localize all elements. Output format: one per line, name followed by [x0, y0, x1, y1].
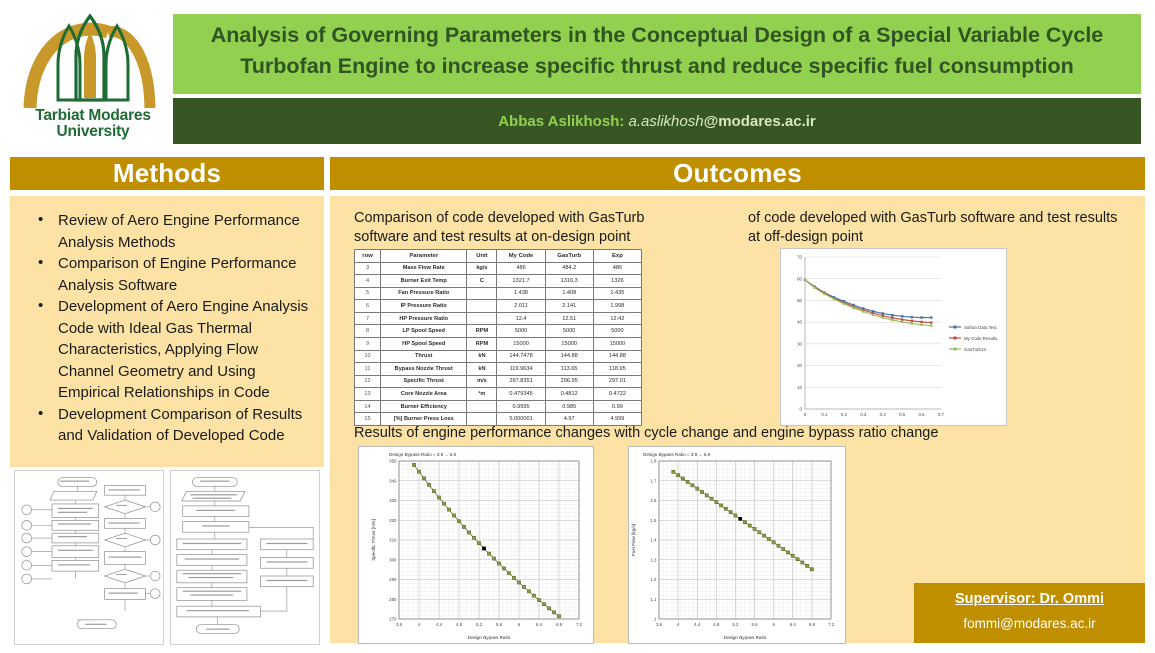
- logo-name-line1: Tarbiat Modares: [18, 108, 168, 124]
- x-tick-label: 5.6: [496, 622, 503, 627]
- x-tick-label: 5.6: [752, 622, 759, 627]
- x-tick-label: 4.4: [694, 622, 701, 627]
- data-point: [462, 525, 465, 528]
- data-point: [786, 551, 789, 554]
- parameter-name: Specific Thrust: [381, 375, 467, 388]
- flowchart-left-diagram: [15, 471, 163, 644]
- value-cell: 297.8351: [497, 375, 545, 388]
- data-point: [753, 527, 756, 530]
- outcomes-section-header: Outcomes: [330, 157, 1145, 190]
- value-cell: 1321.7: [497, 275, 545, 288]
- axis-label-y-specific-thrust: Specific Thrust [m/s]: [371, 519, 376, 561]
- data-point: [739, 517, 742, 520]
- data-point: [911, 316, 913, 318]
- unit-cell: RPM: [467, 325, 497, 338]
- unit-cell: [467, 287, 497, 300]
- flowchart-figures: [14, 470, 320, 645]
- flowchart-right-diagram: [171, 471, 319, 644]
- row-number: 14: [355, 400, 381, 413]
- y-tick-label: 350: [389, 459, 397, 464]
- fuel-flow-plot: Design Bypass Ratio = 3.9 ... 6.8 11.11.…: [629, 447, 845, 643]
- data-point: [833, 298, 835, 300]
- value-cell: 486: [497, 262, 545, 275]
- value-cell: 15000: [545, 337, 593, 350]
- author-name: Abbas Aslikhosh: [498, 113, 619, 130]
- data-point: [901, 321, 903, 323]
- y-tick-label: 1.4: [650, 538, 657, 543]
- data-point: [452, 514, 455, 517]
- y-tick-label: 1.5: [650, 518, 657, 523]
- data-point: [724, 507, 727, 510]
- parameter-name: Fan Pressure Ratio: [381, 287, 467, 300]
- x-tick-label: 0.4: [880, 412, 887, 417]
- data-point: [472, 536, 475, 539]
- value-cell: 12.4: [497, 312, 545, 325]
- value-cell: 118.95: [593, 363, 641, 376]
- on-design-comparison-table: rowParameterUnitMy CodeGasTurbExp 3Mass …: [354, 249, 642, 426]
- parameter-name: IP Pressure Ratio: [381, 300, 467, 313]
- data-point: [492, 557, 495, 560]
- data-point: [729, 511, 732, 514]
- list-item: Development Comparison of Results and Va…: [24, 404, 314, 447]
- data-point: [814, 287, 816, 289]
- value-cell: 144.88: [545, 350, 593, 363]
- methods-bullet-list: Review of Aero Engine Performance Analys…: [10, 196, 324, 447]
- unit-cell: ²m: [467, 388, 497, 401]
- parameter-name: LP Spool Speed: [381, 325, 467, 338]
- fuel-flow-chart: Design Bypass Ratio = 3.9 ... 6.8 11.11.…: [628, 446, 846, 644]
- data-point: [507, 572, 510, 575]
- logo-mark: [18, 12, 168, 112]
- y-tick-label: 50: [797, 298, 802, 303]
- unit-cell: [467, 413, 497, 426]
- y-tick-label: 330: [389, 498, 397, 503]
- data-point: [700, 490, 703, 493]
- data-point: [686, 480, 689, 483]
- row-number: 4: [355, 275, 381, 288]
- parameter-name: Burner Exit Temp: [381, 275, 467, 288]
- data-point: [705, 494, 708, 497]
- data-point: [432, 490, 435, 493]
- value-cell: 296.95: [545, 375, 593, 388]
- unit-cell: C: [467, 275, 497, 288]
- value-cell: 486: [593, 262, 641, 275]
- x-tick-label: 5.2: [732, 622, 739, 627]
- data-point: [710, 497, 713, 500]
- data-point: [477, 542, 480, 545]
- table-row: 13Core Nozzle Area²m0.4793450.48120.4722: [355, 388, 642, 401]
- y-tick-label: 310: [389, 538, 397, 543]
- data-point: [920, 316, 922, 318]
- value-cell: 297.01: [593, 375, 641, 388]
- data-point: [482, 547, 485, 550]
- x-tick-label: 6.8: [809, 622, 816, 627]
- data-point: [691, 484, 694, 487]
- data-point: [772, 541, 775, 544]
- supervisor-title: Supervisor: Dr. Ommi: [914, 591, 1145, 607]
- column-header: row: [355, 250, 381, 263]
- y-tick-label: 280: [389, 597, 397, 602]
- table-row: 14Burner Efficiency0.99950.9850.99: [355, 400, 642, 413]
- value-cell: 0.4722: [593, 388, 641, 401]
- y-tick-label: 1.7: [650, 478, 657, 483]
- parameter-name: Bypass Nozzle Thrust: [381, 363, 467, 376]
- y-tick-label: 30: [797, 341, 802, 346]
- value-cell: 0.99: [593, 400, 641, 413]
- unit-cell: kg/s: [467, 262, 497, 275]
- data-point: [930, 321, 932, 323]
- value-cell: 1.435: [593, 287, 641, 300]
- data-point: [527, 590, 530, 593]
- data-point: [467, 531, 470, 534]
- row-number: 3: [355, 262, 381, 275]
- parameter-name: Mass Flow Rate: [381, 262, 467, 275]
- specific-thrust-plot: Design Bypass Ratio = 3.9 ... 6.8 270280…: [359, 447, 593, 643]
- value-cell: 2.141: [545, 300, 593, 313]
- parameter-name: Burner Efficiency: [381, 400, 467, 413]
- list-item: Review of Aero Engine Performance Analys…: [24, 210, 314, 253]
- caption-results: Results of engine performance changes wi…: [354, 424, 1054, 443]
- data-point: [487, 552, 490, 555]
- supervisor-box: Supervisor: Dr. Ommi fommi@modares.ac.ir: [914, 583, 1145, 643]
- chart-title-specific-thrust: Design Bypass Ratio = 3.9 ... 6.8: [389, 452, 456, 457]
- data-point: [497, 562, 500, 565]
- data-point: [743, 521, 746, 524]
- y-tick-label: 60: [797, 276, 802, 281]
- data-point: [696, 487, 699, 490]
- flowchart-right: [170, 470, 320, 645]
- parameter-name: HP Spool Speed: [381, 337, 467, 350]
- value-cell: 1316.3: [545, 275, 593, 288]
- data-point: [748, 524, 751, 527]
- axis-label-y-fuel-flow: Fuel Flow [kg/s]: [631, 524, 636, 556]
- data-point: [901, 318, 903, 320]
- value-cell: 5000: [545, 325, 593, 338]
- table-row: 12Specific Thrustm/s297.8351296.95297.01: [355, 375, 642, 388]
- data-point: [427, 483, 430, 486]
- value-cell: 113.65: [545, 363, 593, 376]
- author-email: a.aslikhosh@modares.ac.ir: [629, 113, 816, 130]
- author-bar: Abbas Aslikhosh: a.aslikhosh@modares.ac.…: [173, 98, 1141, 144]
- row-number: 15: [355, 413, 381, 426]
- row-number: 10: [355, 350, 381, 363]
- y-tick-label: 10: [797, 385, 802, 390]
- data-point: [557, 615, 560, 618]
- data-point: [767, 537, 770, 540]
- page-title: Analysis of Governing Parameters in the …: [173, 14, 1141, 82]
- value-cell: 12.51: [545, 312, 593, 325]
- y-tick-label: 70: [797, 255, 802, 260]
- x-tick-label: 0.7: [938, 412, 945, 417]
- row-number: 12: [355, 375, 381, 388]
- methods-section-body: Review of Aero Engine Performance Analys…: [10, 196, 324, 467]
- value-cell: 5.000001: [497, 413, 545, 426]
- value-cell: 0.9995: [497, 400, 545, 413]
- row-number: 5: [355, 287, 381, 300]
- value-cell: 144.88: [593, 350, 641, 363]
- methods-section-header: Methods: [10, 157, 324, 190]
- x-tick-label: 0.2: [841, 412, 848, 417]
- data-point: [891, 317, 893, 319]
- y-tick-label: 1.6: [650, 498, 657, 503]
- value-cell: 15000: [593, 337, 641, 350]
- y-tick-label: 20: [797, 363, 802, 368]
- data-point: [806, 564, 809, 567]
- value-cell: 5000: [497, 325, 545, 338]
- data-point: [502, 567, 505, 570]
- parameter-name: [%] Burner Press Loss: [381, 413, 467, 426]
- column-header: Exp: [593, 250, 641, 263]
- data-point: [843, 302, 845, 304]
- data-point: [442, 502, 445, 505]
- value-cell: 1326: [593, 275, 641, 288]
- row-number: 7: [355, 312, 381, 325]
- data-point: [796, 558, 799, 561]
- data-point: [715, 500, 718, 503]
- supervisor-email[interactable]: fommi@modares.ac.ir: [914, 616, 1145, 631]
- data-point: [532, 594, 535, 597]
- author-line: Abbas Aslikhosh: a.aslikhosh@modares.ac.…: [498, 113, 816, 130]
- x-tick-label: 0.5: [899, 412, 906, 417]
- unit-cell: [467, 400, 497, 413]
- list-item: Comparison of Engine Performance Analysi…: [24, 253, 314, 296]
- data-point: [777, 544, 780, 547]
- data-point: [542, 603, 545, 606]
- table-row: 10ThrustkN144.7478144.88144.88: [355, 350, 642, 363]
- legend-label: GasTurb13: [964, 347, 986, 352]
- poster-header: Tarbiat Modares University Analysis of G…: [0, 0, 1155, 152]
- data-point: [901, 315, 903, 317]
- y-tick-label: 40: [797, 320, 802, 325]
- y-tick-label: 270: [389, 617, 397, 622]
- y-tick-label: 1.1: [650, 597, 657, 602]
- table-row: 7HP Pressure Ratio12.412.5112.42: [355, 312, 642, 325]
- table-row: 4Burner Exit TempC1321.71316.31326: [355, 275, 642, 288]
- value-cell: 484.2: [545, 262, 593, 275]
- data-point: [412, 463, 415, 466]
- data-point: [872, 314, 874, 316]
- row-number: 9: [355, 337, 381, 350]
- parameter-name: HP Pressure Ratio: [381, 312, 467, 325]
- y-tick-label: 300: [389, 557, 397, 562]
- university-logo: Tarbiat Modares University: [18, 12, 168, 147]
- data-point: [920, 321, 922, 323]
- table-row: 9HP Spool SpeedRPM150001500015000: [355, 337, 642, 350]
- data-point: [422, 477, 425, 480]
- unit-cell: [467, 312, 497, 325]
- table-body: 3Mass Flow Ratekg/s486484.24864Burner Ex…: [355, 262, 642, 425]
- value-cell: 15000: [497, 337, 545, 350]
- caption-off-design: of code developed with GasTurb software …: [748, 209, 1118, 247]
- list-item: Development of Aero Engine Analysis Code…: [24, 296, 314, 404]
- value-cell: 119.9634: [497, 363, 545, 376]
- data-point: [681, 477, 684, 480]
- data-point: [791, 554, 794, 557]
- axis-label-x-fuel-flow: Design Bypass Ratio: [724, 635, 767, 640]
- university-name: Tarbiat Modares University: [18, 108, 168, 140]
- flowchart-left: [14, 470, 164, 645]
- data-point: [862, 310, 864, 312]
- x-tick-label: 4.8: [713, 622, 720, 627]
- data-point: [801, 561, 804, 564]
- value-cell: 144.7478: [497, 350, 545, 363]
- data-point: [512, 576, 515, 579]
- x-tick-label: 0.6: [919, 412, 926, 417]
- data-point: [911, 320, 913, 322]
- unit-cell: kN: [467, 363, 497, 376]
- value-cell: 12.42: [593, 312, 641, 325]
- table-row: 15[%] Burner Press Loss5.0000014.974.999: [355, 413, 642, 426]
- table-header-row: rowParameterUnitMy CodeGasTurbExp: [355, 250, 642, 263]
- data-point: [457, 520, 460, 523]
- poster-title-box: Analysis of Governing Parameters in the …: [173, 14, 1141, 94]
- data-point: [734, 514, 737, 517]
- data-point: [882, 316, 884, 318]
- value-cell: 0.4812: [545, 388, 593, 401]
- logo-name-line2: University: [18, 124, 168, 140]
- value-cell: 0.479345: [497, 388, 545, 401]
- y-tick-label: 1.2: [650, 577, 657, 582]
- x-tick-label: 7.2: [828, 622, 835, 627]
- value-cell: 1.998: [593, 300, 641, 313]
- data-point: [437, 496, 440, 499]
- data-point: [417, 470, 420, 473]
- x-tick-label: 4.4: [436, 622, 443, 627]
- data-point: [522, 585, 525, 588]
- parameter-name: Thrust: [381, 350, 467, 363]
- value-cell: 4.97: [545, 413, 593, 426]
- y-tick-label: 340: [389, 478, 397, 483]
- data-point: [517, 581, 520, 584]
- column-header: Unit: [467, 250, 497, 263]
- x-tick-label: 7.2: [576, 622, 583, 627]
- x-tick-label: 0.3: [860, 412, 867, 417]
- parameter-name: Core Nozzle Area: [381, 388, 467, 401]
- column-header: My Code: [497, 250, 545, 263]
- y-tick-label: 1.8: [650, 459, 657, 464]
- value-cell: 1.438: [497, 287, 545, 300]
- data-point: [537, 598, 540, 601]
- data-point: [547, 607, 550, 610]
- value-cell: 0.985: [545, 400, 593, 413]
- chart-title-fuel-flow: Design Bypass Ratio = 3.9 ... 6.8: [643, 452, 710, 457]
- column-header: Parameter: [381, 250, 467, 263]
- data-point: [930, 316, 932, 318]
- table-row: 8LP Spool SpeedRPM500050005000: [355, 325, 642, 338]
- unit-cell: RPM: [467, 337, 497, 350]
- value-cell: 5000: [593, 325, 641, 338]
- legend-label: My Code Results: [964, 336, 998, 341]
- x-tick-label: 6.4: [536, 622, 543, 627]
- table-row: 5Fan Pressure Ratio1.4381.4081.435: [355, 287, 642, 300]
- y-tick-label: 320: [389, 518, 397, 523]
- data-point: [782, 547, 785, 550]
- value-cell: 1.408: [545, 287, 593, 300]
- specific-thrust-chart: Design Bypass Ratio = 3.9 ... 6.8 270280…: [358, 446, 594, 644]
- value-cell: 4.999: [593, 413, 641, 426]
- table-row: 11Bypass Nozzle ThrustkN119.9634113.6511…: [355, 363, 642, 376]
- data-point: [882, 312, 884, 314]
- value-cell: 2.011: [497, 300, 545, 313]
- x-tick-label: 6.4: [790, 622, 797, 627]
- row-number: 13: [355, 388, 381, 401]
- y-tick-label: 290: [389, 577, 397, 582]
- data-point: [758, 531, 761, 534]
- data-point: [810, 568, 813, 571]
- data-point: [552, 611, 555, 614]
- data-point: [930, 324, 932, 326]
- data-point: [891, 314, 893, 316]
- data-point: [911, 322, 913, 324]
- x-tick-label: 5.2: [476, 622, 483, 627]
- x-tick-label: 0.1: [821, 412, 828, 417]
- off-design-chart: 010203040506070 00.10.20.30.40.50.60.7 S…: [780, 248, 1007, 426]
- column-header: GasTurb: [545, 250, 593, 263]
- data-point: [763, 534, 766, 537]
- caption-on-design: Comparison of code developed with GasTur…: [354, 209, 684, 247]
- data-point: [920, 324, 922, 326]
- data-point: [672, 470, 675, 473]
- data-point: [720, 504, 723, 507]
- table-row: 3Mass Flow Ratekg/s486484.2486: [355, 262, 642, 275]
- x-tick-label: 3.6: [656, 622, 663, 627]
- x-tick-label: 3.6: [396, 622, 403, 627]
- unit-cell: [467, 300, 497, 313]
- axis-label-x-specific-thrust: Design Bypass Ratio: [468, 635, 511, 640]
- unit-cell: kN: [467, 350, 497, 363]
- row-number: 11: [355, 363, 381, 376]
- data-point: [823, 293, 825, 295]
- y-tick-label: 1.3: [650, 557, 657, 562]
- methods-header-label: Methods: [113, 158, 221, 189]
- row-number: 6: [355, 300, 381, 313]
- x-tick-label: 4.8: [456, 622, 463, 627]
- x-tick-label: 6.8: [556, 622, 563, 627]
- data-point: [447, 508, 450, 511]
- data-point: [852, 307, 854, 309]
- unit-cell: m/s: [467, 375, 497, 388]
- outcomes-header-label: Outcomes: [673, 158, 802, 189]
- off-design-plot: 010203040506070 00.10.20.30.40.50.60.7 S…: [781, 249, 1006, 425]
- row-number: 8: [355, 325, 381, 338]
- table-row: 6IP Pressure Ratio2.0112.1411.998: [355, 300, 642, 313]
- data-point: [677, 474, 680, 477]
- data-point: [891, 319, 893, 321]
- legend-label: Safran Data Test: [964, 325, 997, 330]
